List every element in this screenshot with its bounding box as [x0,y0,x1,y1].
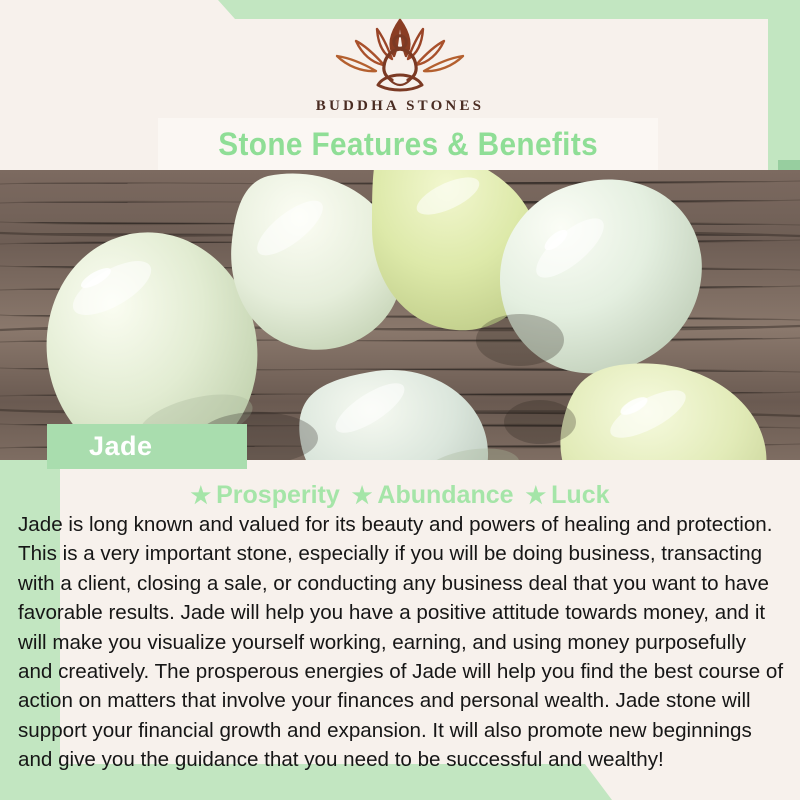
stone-photo [0,170,800,460]
star-icon: ★ [190,482,211,509]
benefits-row: ★Prosperity★Abundance★Luck [0,481,800,510]
brand-logo: BUDDHA STONES [0,16,800,115]
benefit-label: Abundance [377,481,513,510]
brand-name: BUDDHA STONES [0,98,800,115]
stone-description: Jade is long known and valued for its be… [18,510,786,775]
stone-info-card: BUDDHA STONES Stone Features & Benefits [0,0,800,800]
benefit-label: Luck [551,481,609,510]
benefit-label: Prosperity [216,481,340,510]
stone-name-badge: Jade [47,424,247,469]
lotus-meditation-icon [320,16,480,94]
star-icon: ★ [526,482,547,509]
page-title: Stone Features & Benefits [218,126,598,163]
title-banner: Stone Features & Benefits [158,118,658,170]
stone-photo-image [0,170,800,460]
star-icon: ★ [352,482,373,509]
stone-name: Jade [89,431,153,462]
